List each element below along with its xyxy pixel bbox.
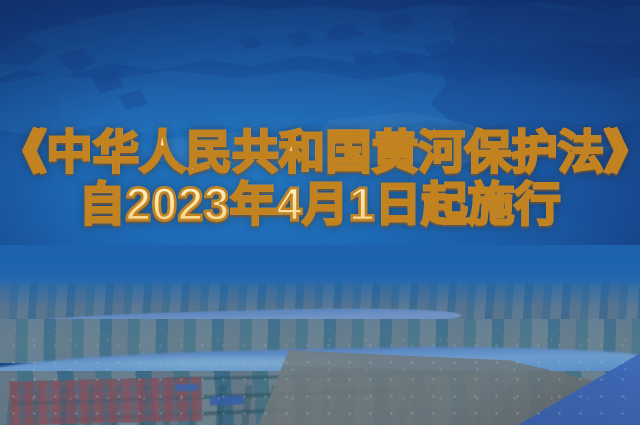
headline: 《中华人民共和国黄河保护法》 自2023年4月1日起施行 [0,128,640,229]
photo-top-fade [0,245,640,307]
aerial-river-photo [0,245,640,425]
headline-line-2: 自2023年4月1日起施行 [0,180,640,230]
yellow-river-law-banner: 《中华人民共和国黄河保护法》 自2023年4月1日起施行 [0,0,640,425]
headline-line-1: 《中华人民共和国黄河保护法》 [0,128,640,178]
